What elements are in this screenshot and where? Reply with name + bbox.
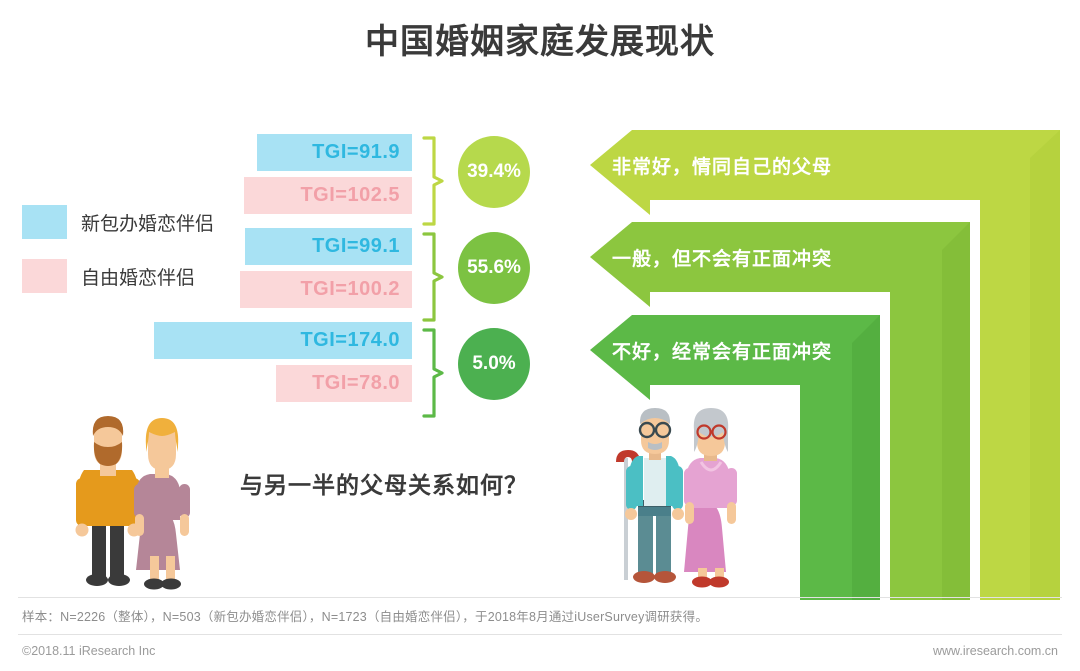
brace-icon-1 [420,232,442,322]
brace-icon-0 [420,136,442,226]
elderly-couple-illustration [608,400,763,600]
bar-blue-2: TGI=174.0 [154,322,412,359]
answer-label-3: 不好，经常会有正面冲突 [612,337,832,364]
bar-pink-1: TGI=100.2 [240,271,412,308]
young-couple-illustration [62,408,202,598]
bar-pink-2: TGI=78.0 [276,365,412,402]
bar-blue-1: TGI=99.1 [245,228,412,265]
pink-swatch-icon [22,259,67,293]
copyright-text: ©2018.11 iResearch Inc [22,644,155,658]
bar-group-1: TGI=99.1 TGI=100.2 [150,228,412,308]
footer-divider-bottom [18,634,1062,635]
bar-group-2: TGI=174.0 TGI=78.0 [150,322,412,402]
footnote-text: 样本：N=2226（整体），N=503（新包办婚恋伴侣），N=1723（自由婚恋… [22,606,708,625]
infographic-page: 中国婚姻家庭发展现状 非常好，情同自己的父母 一般，但不会有正面冲突 不好，经常… [0,0,1080,671]
answer-label-1: 非常好，情同自己的父母 [612,152,832,179]
page-title: 中国婚姻家庭发展现状 [0,14,1080,63]
website-url[interactable]: www.iresearch.com.cn [933,644,1058,658]
blue-swatch-icon [22,205,67,239]
bar-blue-0: TGI=91.9 [257,134,412,171]
brace-icon-2 [420,328,442,418]
bar-group-0: TGI=91.9 TGI=102.5 [150,134,412,214]
answer-label-2: 一般，但不会有正面冲突 [612,244,832,271]
percent-circle-0: 39.4% [458,136,530,208]
question-text: 与另一半的父母关系如何？ [240,466,528,500]
tgi-bar-chart: TGI=91.9 TGI=102.5 TGI=99.1 TGI=100.2 TG… [150,134,412,416]
footer-divider-top [18,597,1062,598]
bar-pink-0: TGI=102.5 [244,177,412,214]
percent-circle-2: 5.0% [458,328,530,400]
percent-circle-1: 55.6% [458,232,530,304]
